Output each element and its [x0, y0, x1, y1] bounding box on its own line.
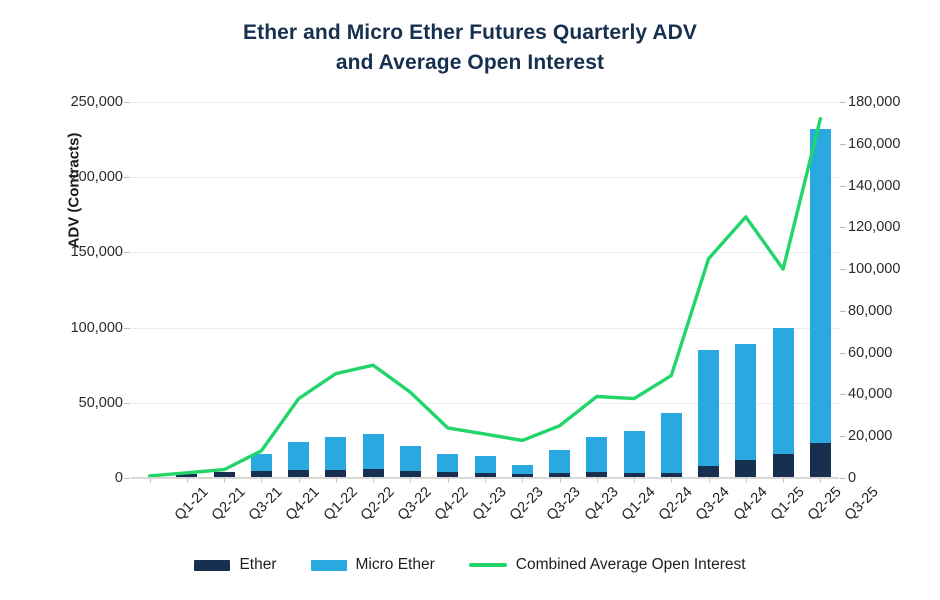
- legend-item-label: Micro Ether: [356, 556, 435, 574]
- y-axis-left-tick-label: 200,000: [71, 170, 123, 184]
- x-axis-tick-label: Q2-23: [507, 484, 547, 524]
- x-axis-tick-mark: [448, 478, 449, 483]
- x-axis-tick-mark: [299, 478, 300, 483]
- y-axis-left-tick-mark: [124, 328, 130, 329]
- y-axis-right-tick-mark: [840, 394, 846, 395]
- x-axis-tick-label: Q4-24: [730, 484, 770, 524]
- legend-item[interactable]: Micro Ether: [311, 556, 435, 574]
- legend-color-swatch-icon: [194, 560, 230, 571]
- gridline: [131, 252, 839, 253]
- bar-segment-micro-ether[interactable]: [810, 129, 831, 478]
- x-axis-tick-mark: [187, 478, 188, 483]
- x-axis-tick-mark: [671, 478, 672, 483]
- chart-title-line-2: and Average Open Interest: [0, 48, 940, 78]
- x-axis-tick-label: Q1-23: [470, 484, 510, 524]
- y-axis-right-tick-mark: [840, 311, 846, 312]
- bar-segment-micro-ether[interactable]: [735, 344, 756, 478]
- x-axis-tick-mark: [336, 478, 337, 483]
- y-axis-left-tick-mark: [124, 252, 130, 253]
- y-axis-left: 050,000100,000150,000200,000250,000: [30, 0, 123, 600]
- bar-column[interactable]: [437, 454, 458, 478]
- x-axis-tick-mark: [597, 478, 598, 483]
- open-interest-line-series: [131, 102, 839, 478]
- bar-column[interactable]: [400, 446, 421, 478]
- bar-segment-micro-ether[interactable]: [661, 413, 682, 478]
- bar-segment-ether[interactable]: [735, 460, 756, 478]
- chart-legend: EtherMicro EtherCombined Average Open In…: [0, 556, 940, 574]
- x-axis-tick-mark: [820, 478, 821, 483]
- bar-column[interactable]: [549, 450, 570, 478]
- y-axis-right-tick-mark: [840, 227, 846, 228]
- page-title: Ether and Micro Ether Futures Quarterly …: [0, 18, 940, 78]
- x-axis-tick-mark: [746, 478, 747, 483]
- y-axis-left-tick-mark: [124, 478, 130, 479]
- x-axis-tick-label: Q4-22: [432, 484, 472, 524]
- gridline: [131, 102, 839, 103]
- bar-column[interactable]: [773, 328, 794, 478]
- x-axis-tick-label: Q2-21: [209, 484, 249, 524]
- bar-column[interactable]: [325, 437, 346, 478]
- legend-item-label: Combined Average Open Interest: [516, 556, 746, 574]
- bar-column[interactable]: [363, 434, 384, 478]
- legend-color-swatch-icon: [311, 560, 347, 571]
- bar-column[interactable]: [475, 456, 496, 478]
- bar-segment-ether[interactable]: [810, 443, 831, 478]
- x-axis-tick-mark: [634, 478, 635, 483]
- y-axis-right-tick-label: 180,000: [848, 95, 900, 109]
- x-axis-tick-mark: [709, 478, 710, 483]
- x-axis-tick-label: Q2-22: [358, 484, 398, 524]
- y-axis-right-tick-mark: [840, 102, 846, 103]
- open-interest-polyline: [150, 119, 821, 476]
- x-axis-tick-mark: [410, 478, 411, 483]
- bar-column[interactable]: [288, 442, 309, 478]
- gridline: [131, 177, 839, 178]
- y-axis-right-tick-label: 40,000: [848, 387, 892, 401]
- x-axis-tick-label: Q2-24: [656, 484, 696, 524]
- bar-column[interactable]: [624, 431, 645, 478]
- x-axis-tick-mark: [522, 478, 523, 483]
- x-axis-tick-mark: [261, 478, 262, 483]
- gridline: [131, 328, 839, 329]
- legend-item[interactable]: Combined Average Open Interest: [469, 556, 746, 574]
- y-axis-left-tick-mark: [124, 403, 130, 404]
- legend-line-swatch-icon: [469, 563, 507, 567]
- legend-item[interactable]: Ether: [194, 556, 276, 574]
- x-axis-tick-label: Q1-22: [320, 484, 360, 524]
- y-axis-right-tick-label: 80,000: [848, 304, 892, 318]
- y-axis-left-tick-label: 0: [115, 471, 123, 485]
- x-axis-tick-mark: [560, 478, 561, 483]
- y-axis-right-tick-label: 20,000: [848, 429, 892, 443]
- x-axis-tick-label: Q1-25: [768, 484, 808, 524]
- bar-column[interactable]: [810, 129, 831, 478]
- y-axis-left-tick-label: 250,000: [71, 95, 123, 109]
- bar-column[interactable]: [698, 350, 719, 478]
- x-axis-tick-label: Q4-21: [283, 484, 323, 524]
- legend-item-label: Ether: [239, 556, 276, 574]
- y-axis-right-tick-mark: [840, 478, 846, 479]
- y-axis-right-tick-label: 120,000: [848, 220, 900, 234]
- x-axis-tick-label: Q3-24: [693, 484, 733, 524]
- y-axis-right-tick-label: 140,000: [848, 179, 900, 193]
- x-axis-tick-label: Q3-21: [246, 484, 286, 524]
- bar-segment-micro-ether[interactable]: [624, 431, 645, 478]
- bar-segment-ether[interactable]: [773, 454, 794, 478]
- x-axis-tick-label: Q3-22: [395, 484, 435, 524]
- y-axis-left-tick-label: 100,000: [71, 321, 123, 335]
- bar-column[interactable]: [661, 413, 682, 478]
- x-axis-tick-label: Q1-24: [619, 484, 659, 524]
- y-axis-right-tick-label: 100,000: [848, 262, 900, 276]
- bar-column[interactable]: [251, 454, 272, 478]
- x-axis-tick-label: Q3-23: [544, 484, 584, 524]
- y-axis-right-tick-mark: [840, 269, 846, 270]
- plot-area: [131, 102, 839, 478]
- y-axis-left-tick-mark: [124, 102, 130, 103]
- chart-page: Ether and Micro Ether Futures Quarterly …: [0, 0, 940, 600]
- bar-column[interactable]: [586, 437, 607, 478]
- x-axis-tick-label: Q4-23: [581, 484, 621, 524]
- y-axis-right-tick-label: 0: [848, 471, 856, 485]
- x-axis-tick-mark: [224, 478, 225, 483]
- x-axis-tick-mark: [485, 478, 486, 483]
- y-axis-right-tick-label: 160,000: [848, 137, 900, 151]
- y-axis-right-tick-mark: [840, 353, 846, 354]
- x-axis-tick-label: Q1-21: [171, 484, 211, 524]
- x-axis-tick-label: Q2-25: [805, 484, 845, 524]
- x-axis-tick-mark: [783, 478, 784, 483]
- x-axis-tick-mark: [373, 478, 374, 483]
- x-axis-tick-mark: [150, 478, 151, 483]
- y-axis-right-tick-mark: [840, 186, 846, 187]
- gridline: [131, 403, 839, 404]
- y-axis-left-tick-label: 150,000: [71, 245, 123, 259]
- y-axis-left-tick-mark: [124, 177, 130, 178]
- chart-title-line-1: Ether and Micro Ether Futures Quarterly …: [0, 18, 940, 48]
- y-axis-left-tick-label: 50,000: [79, 396, 123, 410]
- y-axis-right-tick-label: 60,000: [848, 346, 892, 360]
- bar-segment-micro-ether[interactable]: [698, 350, 719, 478]
- y-axis-right-tick-mark: [840, 436, 846, 437]
- y-axis-right-tick-mark: [840, 144, 846, 145]
- bar-column[interactable]: [735, 344, 756, 478]
